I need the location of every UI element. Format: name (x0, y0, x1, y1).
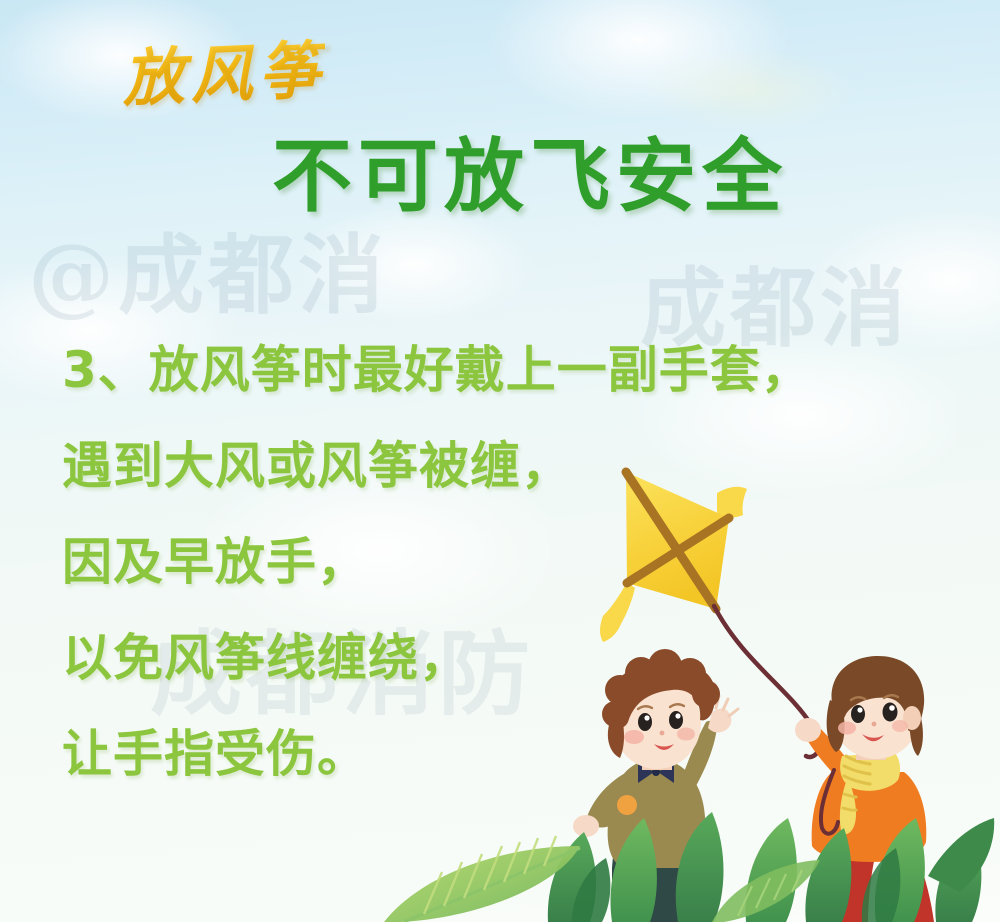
foliage-leaves (384, 812, 994, 922)
body-line: 3、放风筝时最好戴上一副手套， (62, 322, 702, 418)
child-flying-kite (795, 656, 934, 922)
poster-canvas: @成都消 成都消 成都消防 (0, 0, 1000, 922)
body-line: 让手指受伤。 (62, 706, 702, 802)
body-line: 以免风筝线缠绕， (62, 610, 702, 706)
kite-string (714, 606, 819, 757)
body-line: 遇到大风或风筝被缠， (62, 418, 702, 514)
page-title-green: 不可放飞安全 (272, 112, 788, 228)
fern-frond-small (712, 860, 820, 922)
body-copy: 3、放风筝时最好戴上一副手套， 遇到大风或风筝被缠， 因及早放手， 以免风筝线缠… (62, 322, 702, 802)
body-line: 因及早放手， (62, 514, 702, 610)
fern-frond (384, 836, 580, 922)
page-title-gold: 放风筝 (120, 20, 328, 119)
